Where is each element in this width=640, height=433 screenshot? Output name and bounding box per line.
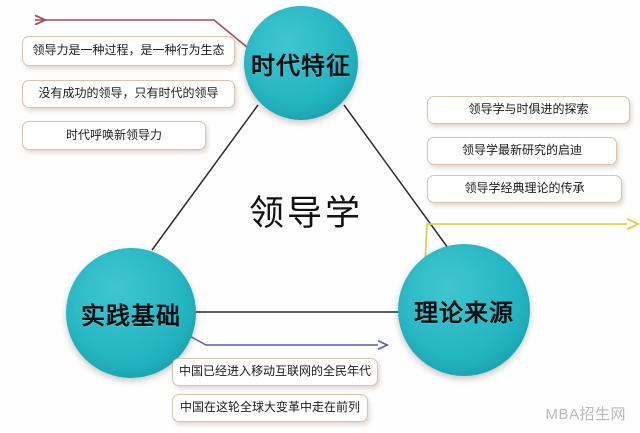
caption-box-left-3: 时代呼唤新领导力: [22, 121, 206, 150]
caption-box-right-2: 领导学最新研究的启迪: [427, 137, 617, 165]
center-title: 领导学: [226, 185, 386, 236]
node-circle-lilunlaiyuan[interactable]: 理论来源: [398, 244, 530, 376]
node-circle-shidaitezheng[interactable]: 时代特征: [244, 6, 358, 120]
watermark: MBA招生网: [545, 403, 626, 424]
diagram-canvas: 领导学 时代特征 实践基础 理论来源 领导力是一种过程，是一种行为生态 没有成功…: [0, 0, 640, 433]
caption-box-right-3: 领导学经典理论的传承: [427, 175, 622, 203]
node-label-left: 实践基础: [81, 296, 181, 331]
caption-box-left-2: 没有成功的领导，只有时代的领导: [22, 80, 235, 108]
node-label-top: 时代特征: [251, 46, 351, 81]
node-label-right: 理论来源: [414, 293, 514, 328]
arrow-bottom-blue: [186, 334, 378, 345]
caption-box-bottom-2: 中国在这轮全球大变革中走在前列: [172, 394, 368, 422]
caption-box-right-1: 领导学与时俱进的探索: [427, 96, 630, 124]
caption-box-bottom-1: 中国已经进入移动互联网的全民年代: [172, 358, 378, 386]
caption-box-left-1: 领导力是一种过程，是一种行为生态: [22, 36, 235, 66]
